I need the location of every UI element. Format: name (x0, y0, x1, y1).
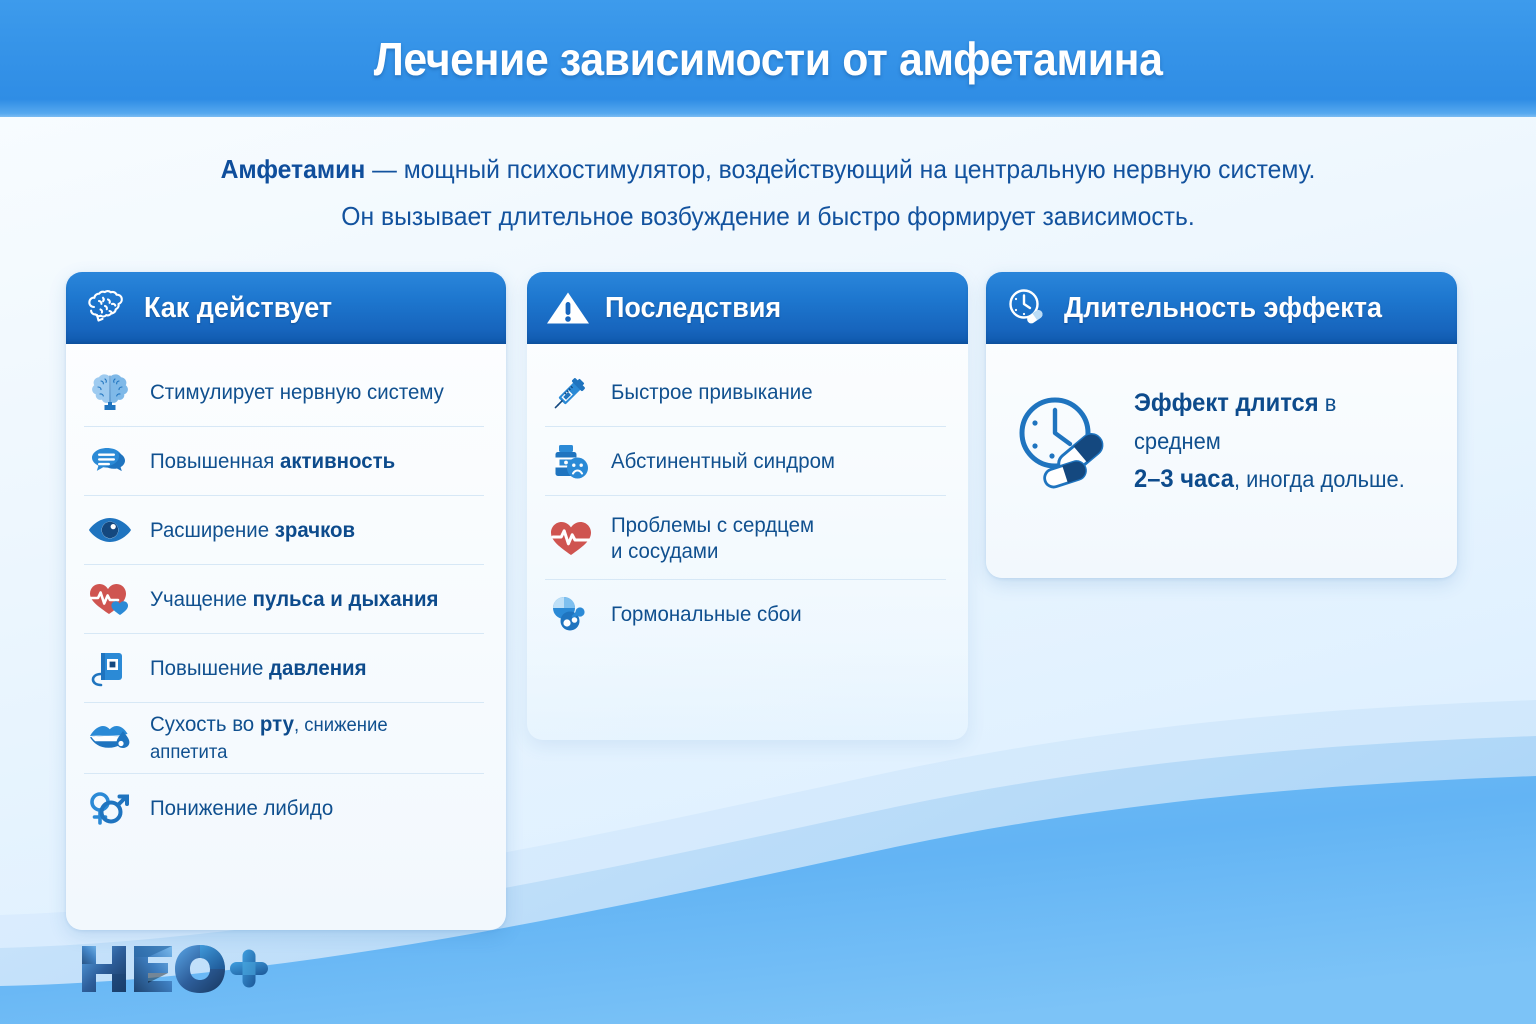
list-item[interactable]: Понижение либидо (84, 774, 484, 842)
card-body-consequences: Быстрое привыкание Абстинентный синдром (527, 344, 968, 658)
chat-bubbles-icon (84, 435, 136, 487)
card-title-how-it-works: Как действует (144, 292, 332, 325)
heart-pulse-icon (545, 512, 597, 564)
card-header-consequences: Последствия (527, 272, 968, 344)
clock-pills-icon (1004, 285, 1050, 331)
page-header: Лечение зависимости от амфетамина (0, 0, 1536, 117)
list-item-label: Гормональные сбои (611, 601, 802, 627)
card-title-effect-duration: Длительность эффекта (1064, 292, 1382, 325)
warning-triangle-icon (545, 285, 591, 331)
syringe-icon (545, 366, 597, 418)
list-item-label: Понижение либидо (150, 795, 333, 821)
list-item-label: Стимулирует нервную систему (150, 379, 444, 405)
effect-line2-bold: 2–3 часа (1134, 465, 1234, 493)
list-item[interactable]: Расширение зрачков (84, 496, 484, 565)
list-item[interactable]: Повышенная активность (84, 427, 484, 496)
molecule-icon (545, 588, 597, 640)
intro-text: Амфетамин — мощный психостимулятор, возд… (0, 146, 1536, 240)
blood-pressure-icon (84, 642, 136, 694)
list-item[interactable]: Быстрое привыкание (545, 358, 946, 427)
card-header-how-it-works: Как действует (66, 272, 506, 344)
list-item[interactable]: Сухость во рту, снижение аппетита (84, 703, 484, 774)
list-item-label: Учащение пульса и дыхания (150, 586, 438, 612)
eye-icon (84, 504, 136, 556)
heartbeat-icon (84, 573, 136, 625)
lips-drop-icon (84, 712, 136, 764)
card-header-effect-duration: Длительность эффекта (986, 272, 1457, 344)
list-item[interactable]: Стимулирует нервную систему (84, 358, 484, 427)
intro-line-2: Он вызывает длительное возбуждение и быс… (38, 193, 1497, 240)
card-body-effect-duration: Эффект длится в среднем 2–3 часа, иногда… (986, 344, 1457, 528)
list-item-label: Повышение давления (150, 655, 367, 681)
effect-duration-text: Эффект длится в среднем 2–3 часа, иногда… (1134, 384, 1416, 498)
list-item-label: Расширение зрачков (150, 517, 355, 543)
pill-bottle-sad-icon (545, 435, 597, 487)
effect-line2-rest: , иногда дольше. (1234, 466, 1405, 492)
list-item[interactable]: Абстинентный синдром (545, 427, 946, 496)
clock-capsules-icon (1008, 386, 1118, 496)
brain-outline-icon (84, 285, 130, 331)
intro-line-1-rest: — мощный психостимулятор, воздействующий… (365, 154, 1315, 184)
effect-line1-bold: Эффект длится (1134, 389, 1319, 417)
list-item[interactable]: Проблемы с сердцеми сосудами (545, 496, 946, 580)
list-item[interactable]: Учащение пульса и дыхания (84, 565, 484, 634)
list-item-label: Абстинентный синдром (611, 448, 835, 474)
neo-plus-logo[interactable] (78, 940, 268, 1009)
list-item[interactable]: Гормональные сбои (545, 580, 946, 648)
page-title: Лечение зависимости от амфетамина (374, 32, 1163, 86)
card-how-it-works[interactable]: Как действует Стимулирует нервную с (66, 272, 506, 930)
card-title-consequences: Последствия (605, 292, 781, 325)
list-item-label: Проблемы с сердцеми сосудами (611, 512, 814, 564)
list-item-label: Быстрое привыкание (611, 379, 813, 405)
list-item-label: Сухость во рту, снижение аппетита (150, 711, 467, 765)
gender-symbols-icon (84, 782, 136, 834)
intro-line-1: Амфетамин — мощный психостимулятор, возд… (38, 146, 1497, 193)
card-consequences[interactable]: Последствия (527, 272, 968, 740)
intro-bold-term: Амфетамин (221, 154, 366, 184)
list-item[interactable]: Повышение давления (84, 634, 484, 703)
card-effect-duration[interactable]: Длительность эффекта Эффект длится (986, 272, 1457, 578)
list-item-label: Повышенная активность (150, 448, 395, 474)
brain-icon (84, 366, 136, 418)
card-body-how-it-works: Стимулирует нервную систему Повышенная а… (66, 344, 506, 852)
